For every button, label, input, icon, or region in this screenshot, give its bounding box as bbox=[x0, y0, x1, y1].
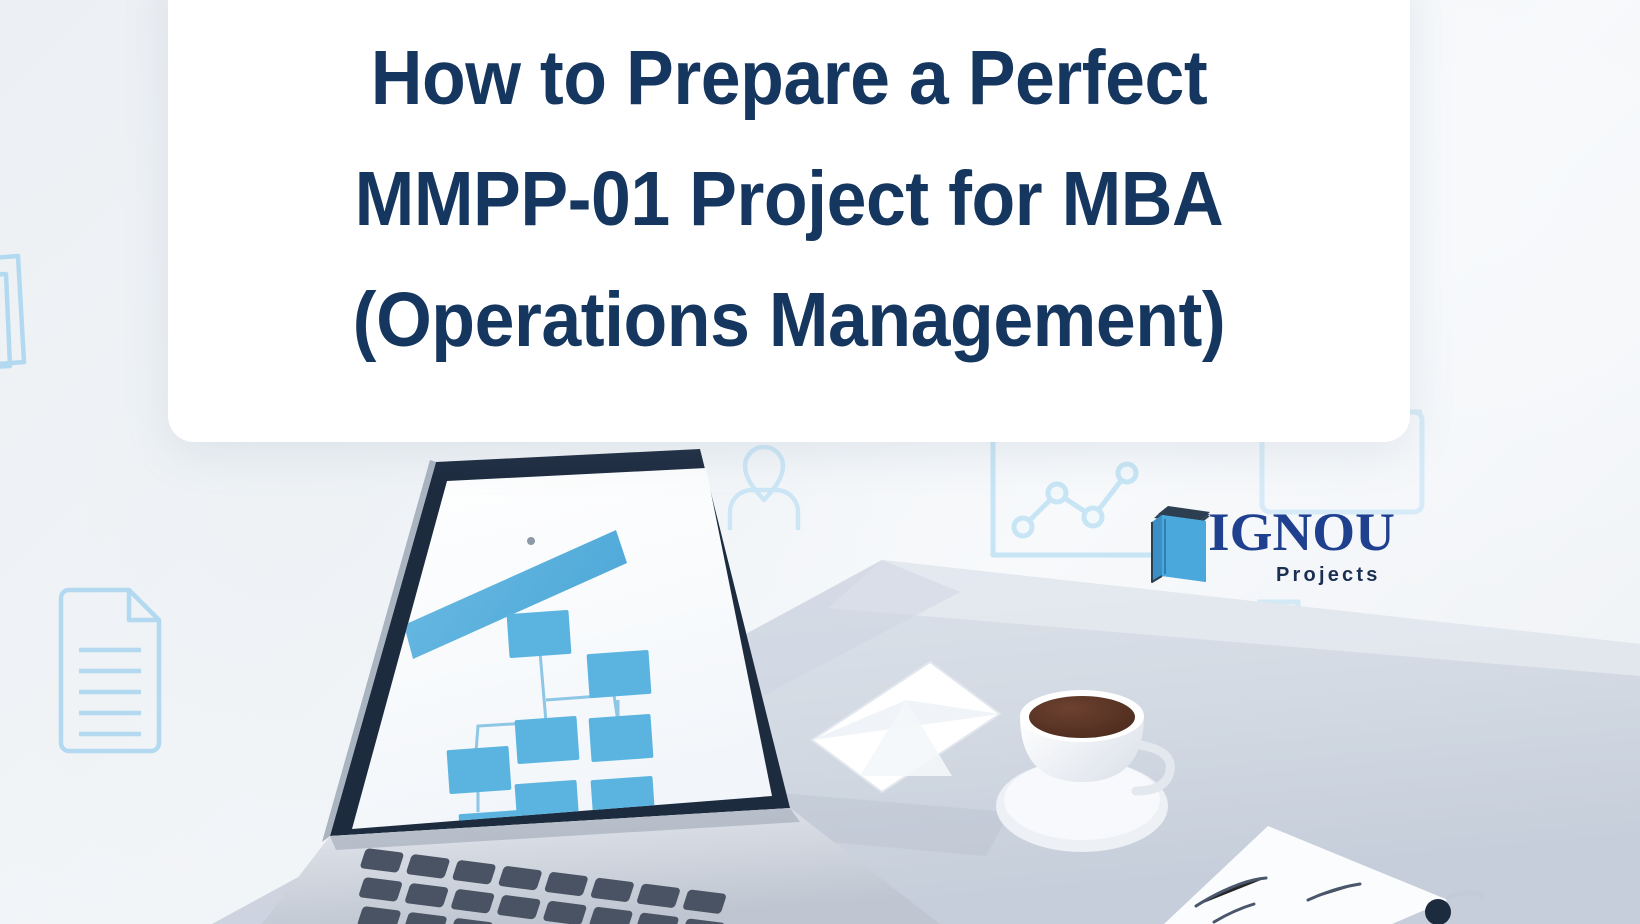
title-line-1: How to Prepare a Perfect bbox=[211, 18, 1366, 139]
logo-brand-text: IGNOU bbox=[1208, 504, 1395, 560]
title-line-2: MMPP-01 Project for MBA bbox=[211, 139, 1366, 260]
title-line-3: (Operations Management) bbox=[211, 260, 1366, 381]
book-icon bbox=[1148, 502, 1214, 588]
pen-tip bbox=[1425, 899, 1451, 924]
logo-tagline: Projects bbox=[1276, 564, 1381, 587]
coffee-liquid bbox=[1029, 696, 1135, 738]
banner-canvas: How to Prepare a Perfect MMPP-01 Project… bbox=[0, 0, 1640, 924]
ignou-projects-logo[interactable]: IGNOU Projects bbox=[1148, 498, 1408, 594]
page-title: How to Prepare a Perfect MMPP-01 Project… bbox=[168, 18, 1410, 381]
